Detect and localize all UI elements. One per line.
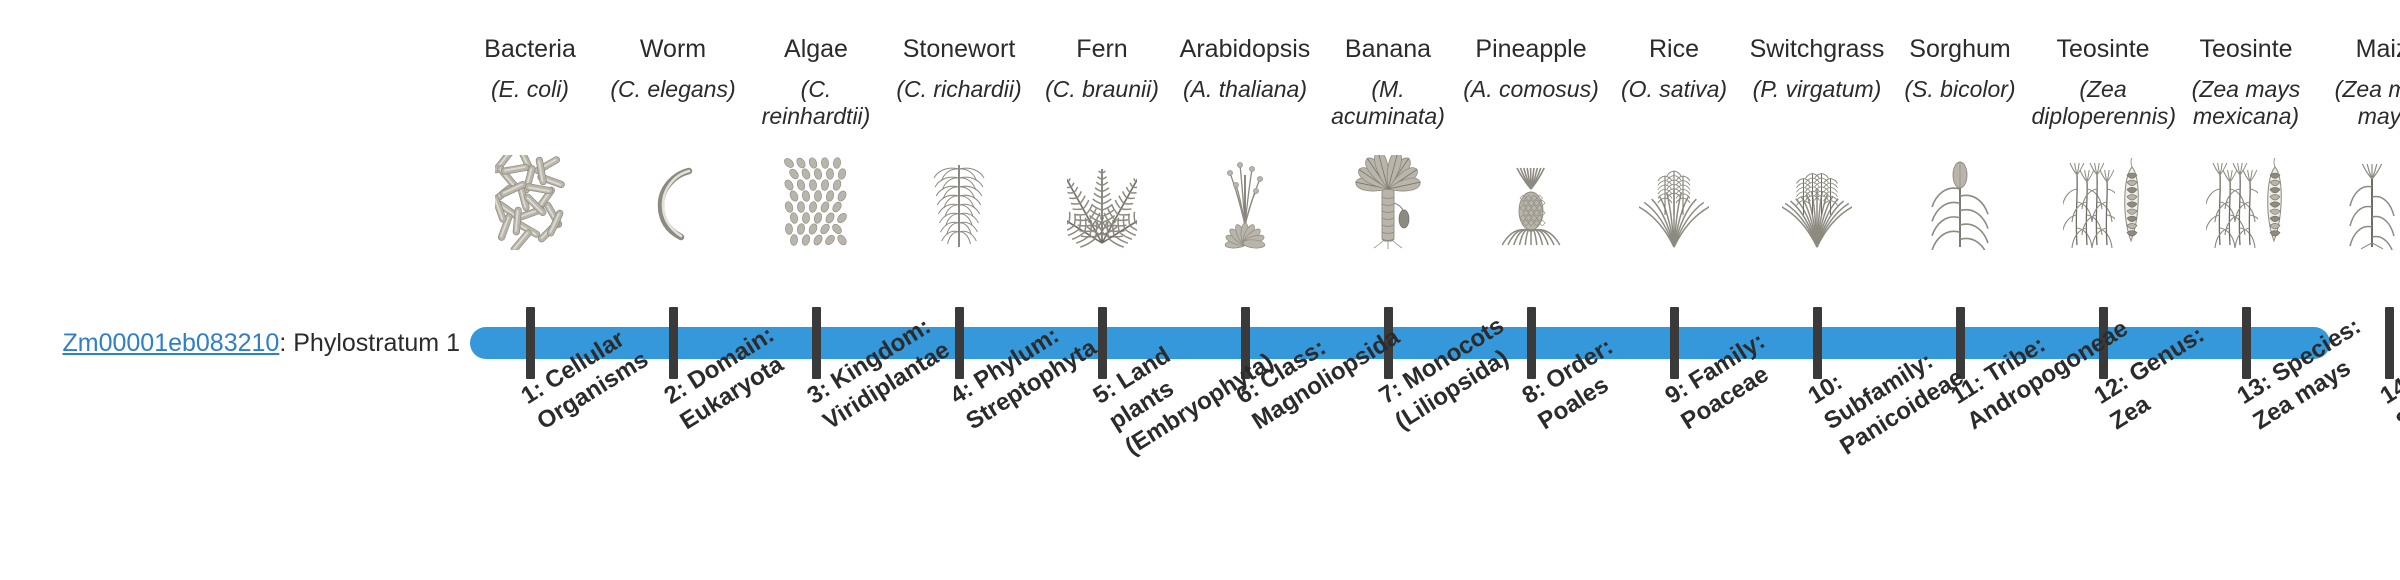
gene-label-separator: : xyxy=(279,329,293,357)
species-common-name: Stonewort xyxy=(888,34,1031,64)
nematode-worm-icon xyxy=(602,155,745,250)
species-latin-name: (A. comosus) xyxy=(1460,76,1603,103)
phylostratum-tick-10[interactable] xyxy=(1813,307,1822,379)
species-column-pineapple-8: Pineapple(A. comosus) xyxy=(1460,34,1603,103)
algae-cells-icon xyxy=(745,155,888,250)
species-column-teosinte-13: Teosinte(Zea mays mexicana) xyxy=(2175,34,2318,130)
species-latin-name: (Zea mays mays) xyxy=(2318,76,2400,130)
species-column-stonewort-4: Stonewort(C. richardii) xyxy=(888,34,1031,103)
species-latin-name: (A. thaliana) xyxy=(1174,76,1317,103)
arabidopsis-plant-icon xyxy=(1174,155,1317,250)
species-common-name: Teosinte xyxy=(2032,34,2175,64)
species-latin-name: (C. richardii) xyxy=(888,76,1031,103)
species-common-name: Teosinte xyxy=(2175,34,2318,64)
species-common-name: Maize xyxy=(2318,34,2400,64)
species-column-banana-7: Banana(M. acuminata) xyxy=(1317,34,1460,130)
fern-frond-icon xyxy=(1031,155,1174,250)
species-common-name: Algae xyxy=(745,34,888,64)
species-common-name: Sorghum xyxy=(1889,34,2032,64)
sorghum-plant-icon xyxy=(1889,155,2032,250)
species-latin-name: (E. coli) xyxy=(459,76,602,103)
banana-tree-icon xyxy=(1317,155,1460,250)
species-column-fern-5: Fern(C. braunii) xyxy=(1031,34,1174,103)
gene-phylostratum-label: Zm00001eb083210: Phylostratum 1 xyxy=(0,328,460,358)
species-latin-name: (C. elegans) xyxy=(602,76,745,103)
switchgrass-icon xyxy=(1746,155,1889,250)
maize-plant-and-ear-icon xyxy=(2318,155,2400,250)
species-common-name: Bacteria xyxy=(459,34,602,64)
phylostratum-tick-2[interactable] xyxy=(669,307,678,379)
gene-id-link[interactable]: Zm00001eb083210 xyxy=(62,329,279,357)
species-latin-name: (O. sativa) xyxy=(1603,76,1746,103)
species-latin-name: (Zea diploperennis) xyxy=(2032,76,2175,130)
phylostratum-tick-4[interactable] xyxy=(955,307,964,379)
species-column-switchgrass-10: Switchgrass(P. virgatum) xyxy=(1746,34,1889,103)
species-common-name: Switchgrass xyxy=(1746,34,1889,64)
rice-grass-icon xyxy=(1603,155,1746,250)
pineapple-plant-icon xyxy=(1460,155,1603,250)
species-latin-name: (S. bicolor) xyxy=(1889,76,2032,103)
phylostratum-tick-13[interactable] xyxy=(2242,307,2251,379)
species-latin-name: (C. reinhardtii) xyxy=(745,76,888,130)
phylostratum-tick-9[interactable] xyxy=(1670,307,1679,379)
species-track: Bacteria(E. coli)Worm(C. elegans)Algae(C… xyxy=(460,0,2400,310)
teosinte-plant-and-ear-icon xyxy=(2032,155,2175,250)
phylostratum-tick-3[interactable] xyxy=(812,307,821,379)
species-latin-name: (Zea mays mexicana) xyxy=(2175,76,2318,130)
bacteria-rods-icon xyxy=(459,155,602,250)
phylostratigraphy-figure: Zm00001eb083210: Phylostratum 1 Bacteria… xyxy=(0,0,2400,580)
species-common-name: Arabidopsis xyxy=(1174,34,1317,64)
phylostratum-tick-1[interactable] xyxy=(526,307,535,379)
species-column-teosinte-12: Teosinte(Zea diploperennis) xyxy=(2032,34,2175,130)
species-column-algae-3: Algae(C. reinhardtii) xyxy=(745,34,888,130)
species-common-name: Worm xyxy=(602,34,745,64)
phylostratum-tick-8[interactable] xyxy=(1527,307,1536,379)
species-latin-name: (M. acuminata) xyxy=(1317,76,1460,130)
species-column-bacteria-1: Bacteria(E. coli) xyxy=(459,34,602,103)
species-column-rice-9: Rice(O. sativa) xyxy=(1603,34,1746,103)
phylostratum-tick-14[interactable] xyxy=(2385,307,2394,379)
phylostratum-tick-5[interactable] xyxy=(1098,307,1107,379)
teosinte-plant-and-ear-icon xyxy=(2175,155,2318,250)
species-latin-name: (C. braunii) xyxy=(1031,76,1174,103)
species-common-name: Banana xyxy=(1317,34,1460,64)
species-column-worm-2: Worm(C. elegans) xyxy=(602,34,745,103)
taxonomy-rank: Subfamily: Panicoideae xyxy=(1819,347,1968,460)
stonewort-alga-icon xyxy=(888,155,1031,250)
species-column-sorghum-11: Sorghum(S. bicolor) xyxy=(1889,34,2032,103)
species-column-maize-14: Maize(Zea mays mays) xyxy=(2318,34,2400,130)
species-common-name: Rice xyxy=(1603,34,1746,64)
species-latin-name: (P. virgatum) xyxy=(1746,76,1889,103)
species-common-name: Fern xyxy=(1031,34,1174,64)
taxonomy-label-layer: 1: Cellular Organisms2: Domain: Eukaryot… xyxy=(0,386,2400,580)
phylostratum-value: Phylostratum 1 xyxy=(293,329,460,357)
species-column-arabidopsis-6: Arabidopsis(A. thaliana) xyxy=(1174,34,1317,103)
species-common-name: Pineapple xyxy=(1460,34,1603,64)
